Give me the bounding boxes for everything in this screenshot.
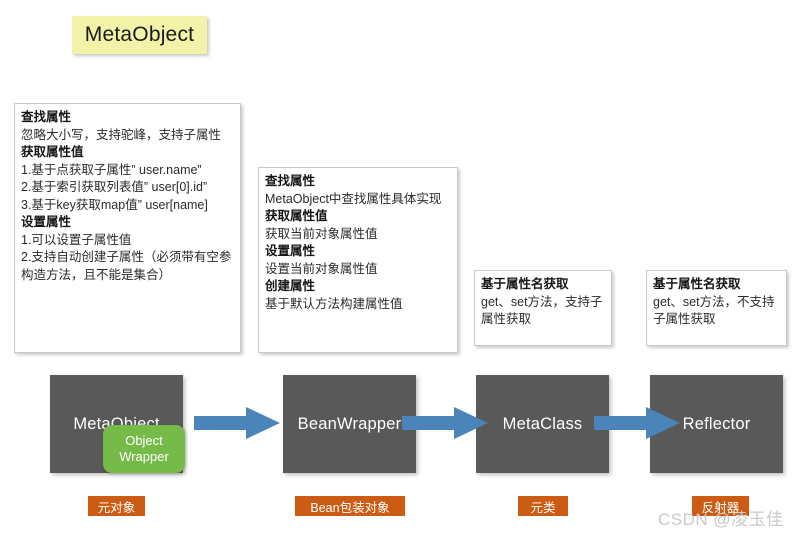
flow-arrow-icon (402, 406, 488, 440)
note-text: 设置当前对象属性值 (265, 261, 451, 279)
flow-node-tag-metaclass: 元类 (518, 496, 568, 516)
flow-node-label: Reflector (683, 415, 751, 434)
note-heading: 获取属性值 (21, 144, 234, 162)
metaobject-capabilities-note: 查找属性忽略大小写，支持驼峰，支持子属性获取属性值1.基于点获取子属性” use… (14, 103, 241, 353)
flow-node-tag-metaobject: 元对象 (88, 496, 145, 516)
note-heading: 设置属性 (265, 243, 451, 261)
flow-node-tag-beanwrapper: Bean包装对象 (295, 496, 405, 516)
flow-arrow-icon (194, 406, 280, 440)
note-heading: 设置属性 (21, 214, 234, 232)
note-text: 获取当前对象属性值 (265, 226, 451, 244)
note-heading: 查找属性 (21, 109, 234, 127)
note-heading: 基于属性名获取 (653, 276, 780, 294)
note-heading: 查找属性 (265, 173, 451, 191)
beanwrapper-capabilities-note: 查找属性MetaObject中查找属性具体实现获取属性值获取当前对象属性值设置属… (258, 167, 458, 353)
note-heading: 基于属性名获取 (481, 276, 605, 294)
flow-node-label: BeanWrapper (298, 415, 402, 434)
metaclass-capabilities-note: 基于属性名获取get、set方法，支持子属性获取 (474, 270, 612, 346)
flow-arrow-icon (594, 406, 680, 440)
flow-node-beanwrapper[interactable]: BeanWrapper (283, 375, 416, 473)
flow-node-label: MetaClass (503, 415, 583, 434)
note-text: get、set方法，支持子属性获取 (481, 294, 605, 329)
note-text: 忽略大小写，支持驼峰，支持子属性 (21, 127, 234, 145)
object-wrapper-badge-line1: Object (125, 433, 163, 449)
note-heading: 创建属性 (265, 278, 451, 296)
note-text: 1.可以设置子属性值 (21, 232, 234, 250)
note-text: 2.基于索引获取列表值” user[0].id” (21, 179, 234, 197)
flow-node-tag-reflector: 反射器 (692, 496, 749, 516)
object-wrapper-badge-line2: Wrapper (119, 449, 169, 465)
note-text: 2.支持自动创建子属性（必须带有空参构造方法，且不能是集合） (21, 249, 234, 284)
reflector-capabilities-note: 基于属性名获取get、set方法，不支持子属性获取 (646, 270, 787, 346)
object-wrapper-badge[interactable]: Object Wrapper (103, 425, 185, 473)
page-title: MetaObject (85, 23, 194, 47)
note-text: 3.基于key获取map值” user[name] (21, 197, 234, 215)
diagram-title-chip: MetaObject (72, 16, 207, 54)
note-text: 1.基于点获取子属性” user.name” (21, 162, 234, 180)
note-heading: 获取属性值 (265, 208, 451, 226)
flow-node-metaclass[interactable]: MetaClass (476, 375, 609, 473)
note-text: get、set方法，不支持子属性获取 (653, 294, 780, 329)
note-text: MetaObject中查找属性具体实现 (265, 191, 451, 209)
note-text: 基于默认方法构建属性值 (265, 296, 451, 314)
